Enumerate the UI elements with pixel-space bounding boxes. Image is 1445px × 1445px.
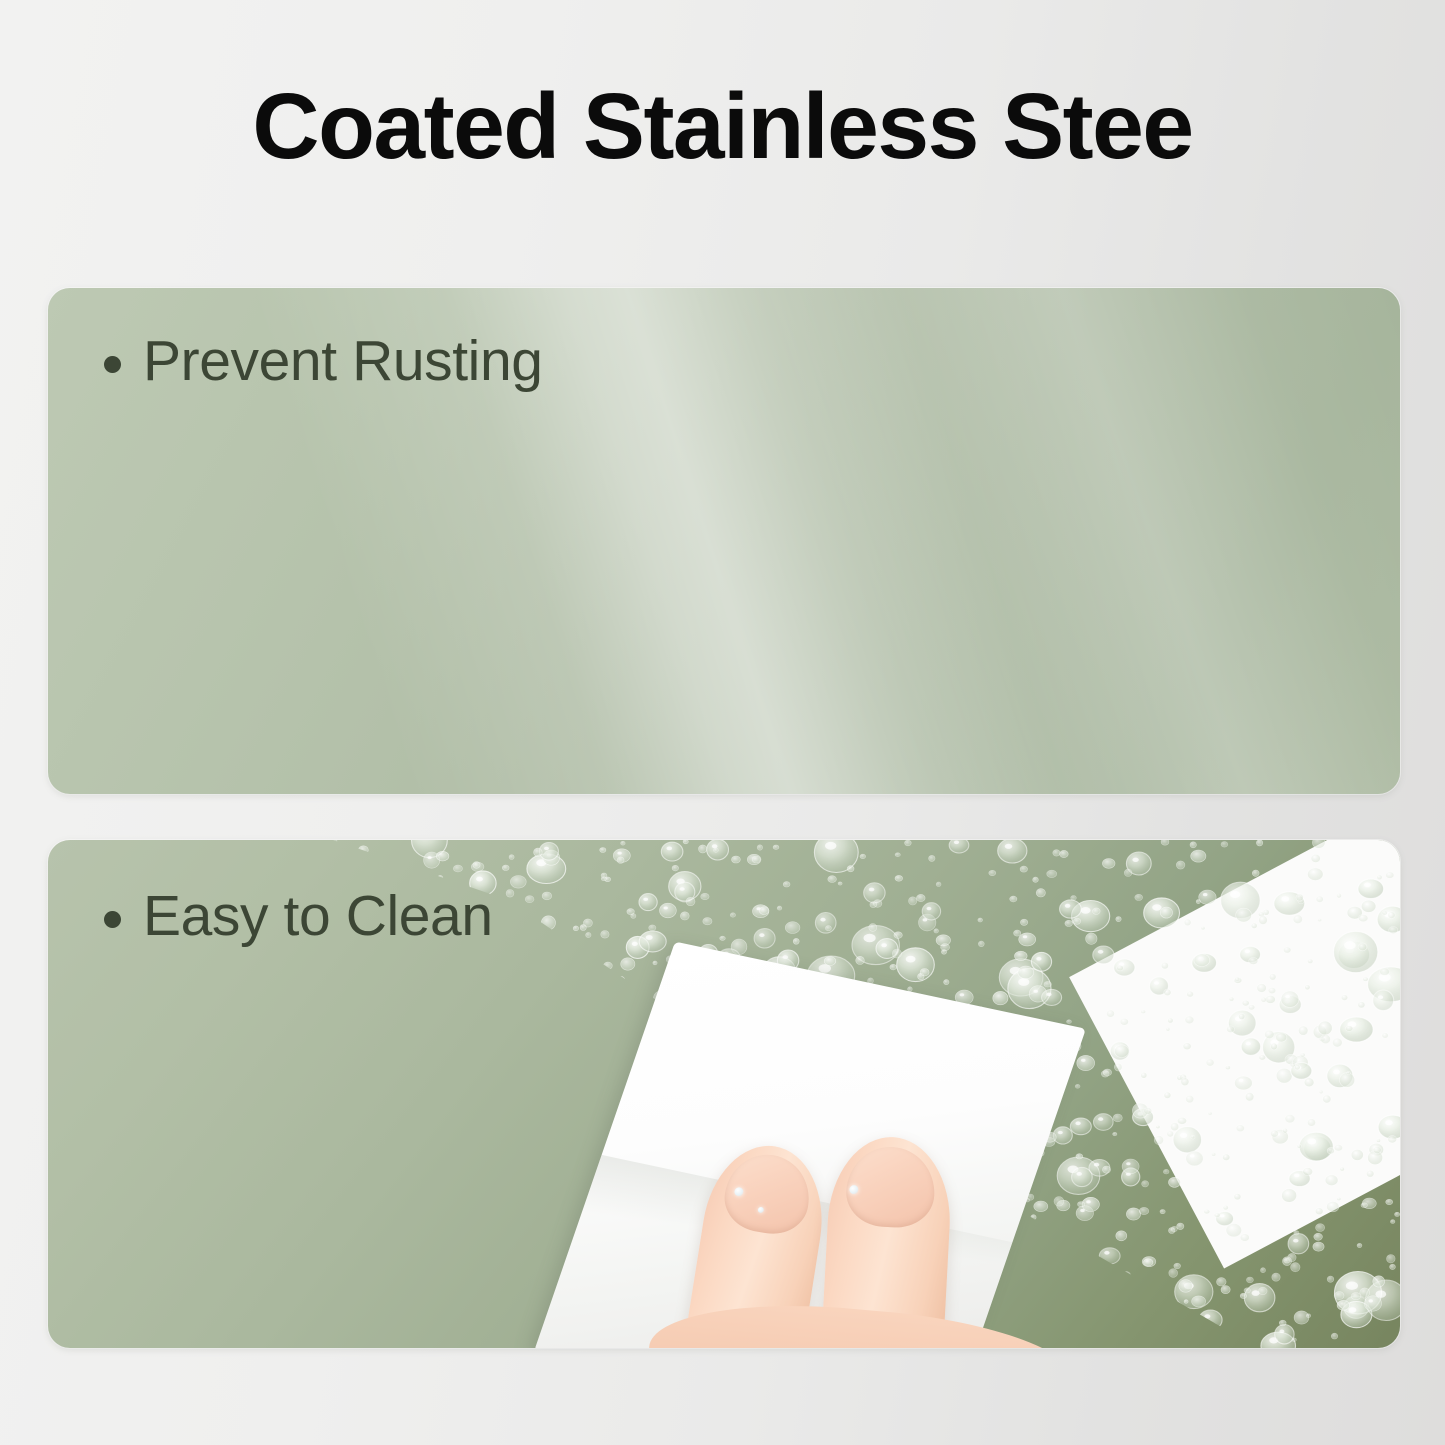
bullet-dot-icon	[104, 356, 121, 373]
background-corner	[1069, 840, 1400, 1269]
bullet-dot-icon	[104, 911, 121, 928]
bullet-label-prevent-rusting: Prevent Rusting	[143, 333, 543, 390]
page-title: Coated Stainless Stee	[0, 78, 1445, 176]
product-feature-graphic: Coated Stainless Stee Prevent Rusting	[0, 0, 1445, 1445]
bullet-item-easy-to-clean: Easy to Clean	[104, 888, 493, 945]
bullet-label-easy-to-clean: Easy to Clean	[143, 888, 493, 945]
bullet-item-prevent-rusting: Prevent Rusting	[104, 333, 543, 390]
